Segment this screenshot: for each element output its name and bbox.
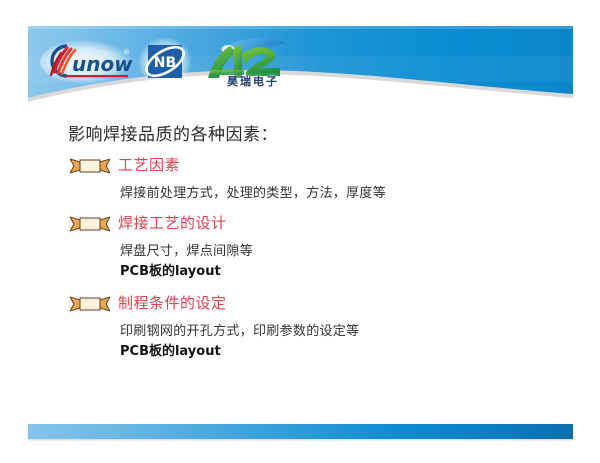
content-section-2: 焊接工艺的设计 焊盘尺寸，焊点间隙等 PCB板的layout xyxy=(0,212,600,236)
sunow-logo: unow ® xyxy=(40,40,132,84)
haorui-logo-chinese-text: 昊瑞电子 xyxy=(210,73,296,89)
section-2-header: 焊接工艺的设计 xyxy=(0,212,600,236)
header-logo-row: unow ® NB xyxy=(40,31,298,93)
section-1-header: 工艺因素 xyxy=(0,154,600,178)
haorui-green-number-two xyxy=(242,47,280,76)
section-2-title: 焊接工艺的设计 xyxy=(118,212,227,233)
section-3-detail-line-1: 印刷钢网的开孔方式，印刷参数的设定等 xyxy=(120,320,359,339)
section-1-title: 工艺因素 xyxy=(118,154,180,175)
section-3-header: 制程条件的设定 xyxy=(0,292,600,316)
nb-logo-text: NB xyxy=(154,55,176,71)
haorui-logo: 昊瑞电子 xyxy=(198,34,298,90)
page-title: 影响焊接品质的各种因素： xyxy=(68,120,278,145)
ribbon-bullet-icon xyxy=(70,157,110,175)
section-2-detail-line-1: 焊盘尺寸，焊点间隙等 xyxy=(120,240,253,259)
ribbon-bullet-icon xyxy=(70,295,110,313)
section-1-detail-line-1: 焊接前处理方式，处理的类型，方法，厚度等 xyxy=(120,182,386,201)
registered-mark-icon: ® xyxy=(123,48,130,56)
section-3-title: 制程条件的设定 xyxy=(118,292,227,313)
footer-accent-bar xyxy=(28,424,573,439)
nb-logo: NB xyxy=(142,40,188,84)
sunow-underline xyxy=(66,75,128,77)
ribbon-bullet-icon xyxy=(70,215,110,233)
content-section-1: 工艺因素 焊接前处理方式，处理的类型，方法，厚度等 xyxy=(0,154,600,178)
content-section-3: 制程条件的设定 印刷钢网的开孔方式，印刷参数的设定等 PCB板的layout xyxy=(0,292,600,316)
presentation-slide: unow ® NB xyxy=(0,0,600,463)
section-3-detail-line-2: PCB板的layout xyxy=(120,340,221,359)
section-2-detail-line-2: PCB板的layout xyxy=(120,260,221,279)
